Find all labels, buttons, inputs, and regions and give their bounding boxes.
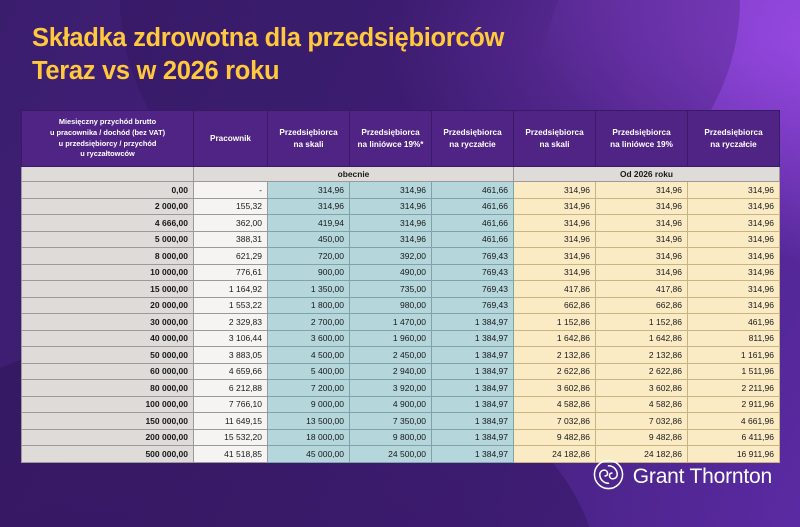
cell-income: 60 000,00 [22, 363, 194, 380]
cell-2026-lumpsum: 6 411,96 [688, 429, 780, 446]
cell-now-flat-19: 2 450,00 [350, 347, 432, 364]
cell-employee: 15 532,20 [194, 429, 268, 446]
cell-income: 200 000,00 [22, 429, 194, 446]
cell-income: 5 000,00 [22, 231, 194, 248]
brand-logo: Grant Thornton [593, 459, 772, 495]
cell-now-scale: 7 200,00 [268, 380, 350, 397]
cell-now-scale: 13 500,00 [268, 413, 350, 430]
table-row: 40 000,003 106,443 600,001 960,001 384,9… [22, 330, 780, 347]
cell-2026-lumpsum: 314,96 [688, 297, 780, 314]
cell-now-lumpsum: 461,66 [432, 198, 514, 215]
table-head: Miesięczny przychód brutto u pracownika … [22, 111, 780, 167]
cell-employee: 6 212,88 [194, 380, 268, 397]
cell-2026-lumpsum: 461,96 [688, 314, 780, 331]
cell-now-lumpsum: 1 384,97 [432, 413, 514, 430]
cell-employee: 3 106,44 [194, 330, 268, 347]
cell-now-lumpsum: 1 384,97 [432, 446, 514, 463]
cell-now-flat-19: 9 800,00 [350, 429, 432, 446]
cell-now-lumpsum: 461,66 [432, 215, 514, 232]
cell-2026-lumpsum: 314,96 [688, 281, 780, 298]
cell-now-flat-19: 3 920,00 [350, 380, 432, 397]
cell-now-scale: 450,00 [268, 231, 350, 248]
cell-2026-scale: 662,86 [514, 297, 596, 314]
page-title: Składka zdrowotna dla przedsiębiorców Te… [32, 22, 732, 88]
cell-now-flat-19: 392,00 [350, 248, 432, 265]
cell-2026-scale: 314,96 [514, 264, 596, 281]
cell-2026-flat-19: 1 152,86 [596, 314, 688, 331]
cell-now-lumpsum: 1 384,97 [432, 314, 514, 331]
cell-2026-lumpsum: 2 911,96 [688, 396, 780, 413]
cell-2026-scale: 2 132,86 [514, 347, 596, 364]
col-header-employee: Pracownik [194, 111, 268, 167]
cell-now-scale: 18 000,00 [268, 429, 350, 446]
cell-now-scale: 314,96 [268, 182, 350, 199]
cell-employee: 621,29 [194, 248, 268, 265]
cell-now-lumpsum: 769,43 [432, 297, 514, 314]
cell-income: 40 000,00 [22, 330, 194, 347]
cell-2026-flat-19: 2 622,86 [596, 363, 688, 380]
cell-now-flat-19: 314,96 [350, 182, 432, 199]
cell-income: 500 000,00 [22, 446, 194, 463]
cell-2026-lumpsum: 314,96 [688, 182, 780, 199]
col-header-now-scale: Przedsiębiorca na skali [268, 111, 350, 167]
col-header-now-flat-19: Przedsiębiorca na liniówce 19%* [350, 111, 432, 167]
cell-now-flat-19: 24 500,00 [350, 446, 432, 463]
comparison-table-wrapper: Miesięczny przychód brutto u pracownika … [21, 110, 779, 463]
cell-2026-flat-19: 417,86 [596, 281, 688, 298]
cell-now-flat-19: 314,96 [350, 215, 432, 232]
cell-employee: 7 766,10 [194, 396, 268, 413]
cell-now-scale: 4 500,00 [268, 347, 350, 364]
cell-now-lumpsum: 769,43 [432, 264, 514, 281]
table-row: 200 000,0015 532,2018 000,009 800,001 38… [22, 429, 780, 446]
cell-now-scale: 900,00 [268, 264, 350, 281]
cell-now-flat-19: 980,00 [350, 297, 432, 314]
cell-2026-flat-19: 314,96 [596, 248, 688, 265]
cell-now-flat-19: 490,00 [350, 264, 432, 281]
cell-employee: 41 518,85 [194, 446, 268, 463]
table-row: 15 000,001 164,921 350,00735,00769,43417… [22, 281, 780, 298]
cell-2026-lumpsum: 314,96 [688, 231, 780, 248]
cell-now-lumpsum: 461,66 [432, 182, 514, 199]
cell-employee: 1 553,22 [194, 297, 268, 314]
cell-2026-lumpsum: 1 161,96 [688, 347, 780, 364]
table-row: 80 000,006 212,887 200,003 920,001 384,9… [22, 380, 780, 397]
cell-now-lumpsum: 1 384,97 [432, 363, 514, 380]
cell-2026-flat-19: 9 482,86 [596, 429, 688, 446]
cell-now-scale: 1 800,00 [268, 297, 350, 314]
cell-now-flat-19: 7 350,00 [350, 413, 432, 430]
cell-now-flat-19: 735,00 [350, 281, 432, 298]
table-row: 50 000,003 883,054 500,002 450,001 384,9… [22, 347, 780, 364]
cell-2026-lumpsum: 314,96 [688, 248, 780, 265]
cell-now-flat-19: 1 470,00 [350, 314, 432, 331]
cell-income: 150 000,00 [22, 413, 194, 430]
cell-2026-flat-19: 2 132,86 [596, 347, 688, 364]
cell-2026-flat-19: 314,96 [596, 182, 688, 199]
cell-2026-flat-19: 314,96 [596, 215, 688, 232]
cell-employee: 388,31 [194, 231, 268, 248]
col-header-income: Miesięczny przychód brutto u pracownika … [22, 111, 194, 167]
cell-income: 100 000,00 [22, 396, 194, 413]
cell-employee: 155,32 [194, 198, 268, 215]
cell-2026-scale: 314,96 [514, 215, 596, 232]
cell-2026-scale: 4 582,86 [514, 396, 596, 413]
col-header-2026-flat-19: Przedsiębiorca na liniówce 19% [596, 111, 688, 167]
cell-income: 80 000,00 [22, 380, 194, 397]
cell-employee: 3 883,05 [194, 347, 268, 364]
cell-employee: 2 329,83 [194, 314, 268, 331]
cell-now-scale: 45 000,00 [268, 446, 350, 463]
cell-2026-scale: 1 642,86 [514, 330, 596, 347]
cell-now-lumpsum: 461,66 [432, 231, 514, 248]
cell-now-scale: 1 350,00 [268, 281, 350, 298]
cell-now-lumpsum: 1 384,97 [432, 347, 514, 364]
cell-now-scale: 5 400,00 [268, 363, 350, 380]
table-row: 20 000,001 553,221 800,00980,00769,43662… [22, 297, 780, 314]
cell-2026-flat-19: 4 582,86 [596, 396, 688, 413]
cell-2026-flat-19: 314,96 [596, 264, 688, 281]
cell-now-scale: 419,94 [268, 215, 350, 232]
cell-employee: 11 649,15 [194, 413, 268, 430]
cell-now-flat-19: 314,96 [350, 231, 432, 248]
infographic-page: Składka zdrowotna dla przedsiębiorców Te… [0, 0, 800, 527]
col-header-2026-lumpsum: Przedsiębiorca na ryczałcie [688, 111, 780, 167]
cell-2026-scale: 9 482,86 [514, 429, 596, 446]
cell-2026-scale: 1 152,86 [514, 314, 596, 331]
cell-2026-flat-19: 662,86 [596, 297, 688, 314]
cell-now-flat-19: 2 940,00 [350, 363, 432, 380]
cell-income: 30 000,00 [22, 314, 194, 331]
cell-now-lumpsum: 1 384,97 [432, 429, 514, 446]
period-band-row: obecnie Od 2026 roku [22, 167, 780, 182]
cell-now-lumpsum: 1 384,97 [432, 396, 514, 413]
cell-2026-lumpsum: 314,96 [688, 215, 780, 232]
cell-2026-lumpsum: 1 511,96 [688, 363, 780, 380]
cell-now-flat-19: 1 960,00 [350, 330, 432, 347]
cell-2026-lumpsum: 811,96 [688, 330, 780, 347]
cell-now-scale: 9 000,00 [268, 396, 350, 413]
cell-2026-flat-19: 7 032,86 [596, 413, 688, 430]
table-row: 0,00-314,96314,96461,66314,96314,96314,9… [22, 182, 780, 199]
cell-2026-flat-19: 3 602,86 [596, 380, 688, 397]
cell-now-flat-19: 314,96 [350, 198, 432, 215]
cell-2026-scale: 314,96 [514, 231, 596, 248]
cell-income: 50 000,00 [22, 347, 194, 364]
cell-now-flat-19: 4 900,00 [350, 396, 432, 413]
cell-employee: 1 164,92 [194, 281, 268, 298]
cell-employee: 362,00 [194, 215, 268, 232]
cell-2026-scale: 417,86 [514, 281, 596, 298]
cell-now-scale: 314,96 [268, 198, 350, 215]
table-row: 60 000,004 659,665 400,002 940,001 384,9… [22, 363, 780, 380]
col-header-now-lumpsum: Przedsiębiorca na ryczałcie [432, 111, 514, 167]
cell-employee: 4 659,66 [194, 363, 268, 380]
health-contribution-table: Miesięczny przychód brutto u pracownika … [21, 110, 780, 463]
cell-2026-scale: 24 182,86 [514, 446, 596, 463]
cell-2026-flat-19: 314,96 [596, 231, 688, 248]
cell-2026-scale: 314,96 [514, 182, 596, 199]
cell-2026-lumpsum: 2 211,96 [688, 380, 780, 397]
cell-2026-lumpsum: 314,96 [688, 198, 780, 215]
cell-now-scale: 2 700,00 [268, 314, 350, 331]
band-current-label: obecnie [194, 167, 514, 182]
table-row: 10 000,00776,61900,00490,00769,43314,963… [22, 264, 780, 281]
band-future-label: Od 2026 roku [514, 167, 780, 182]
table-body: obecnie Od 2026 roku 0,00-314,96314,9646… [22, 167, 780, 463]
cell-2026-lumpsum: 314,96 [688, 264, 780, 281]
cell-2026-scale: 2 622,86 [514, 363, 596, 380]
cell-now-lumpsum: 769,43 [432, 281, 514, 298]
cell-now-scale: 720,00 [268, 248, 350, 265]
cell-income: 20 000,00 [22, 297, 194, 314]
cell-2026-scale: 314,96 [514, 198, 596, 215]
table-row: 100 000,007 766,109 000,004 900,001 384,… [22, 396, 780, 413]
cell-income: 2 000,00 [22, 198, 194, 215]
cell-employee: 776,61 [194, 264, 268, 281]
table-row: 30 000,002 329,832 700,001 470,001 384,9… [22, 314, 780, 331]
table-row: 150 000,0011 649,1513 500,007 350,001 38… [22, 413, 780, 430]
cell-employee: - [194, 182, 268, 199]
table-header-row: Miesięczny przychód brutto u pracownika … [22, 111, 780, 167]
cell-now-scale: 3 600,00 [268, 330, 350, 347]
cell-now-lumpsum: 769,43 [432, 248, 514, 265]
table-row: 5 000,00388,31450,00314,96461,66314,9631… [22, 231, 780, 248]
cell-income: 0,00 [22, 182, 194, 199]
band-blank-cell [22, 167, 194, 182]
cell-2026-flat-19: 1 642,86 [596, 330, 688, 347]
col-header-2026-scale: Przedsiębiorca na skali [514, 111, 596, 167]
cell-2026-scale: 314,96 [514, 248, 596, 265]
cell-income: 15 000,00 [22, 281, 194, 298]
grant-thornton-swirl-icon [593, 459, 624, 495]
cell-2026-flat-19: 314,96 [596, 198, 688, 215]
cell-now-lumpsum: 1 384,97 [432, 330, 514, 347]
cell-income: 8 000,00 [22, 248, 194, 265]
table-row: 2 000,00155,32314,96314,96461,66314,9631… [22, 198, 780, 215]
cell-income: 10 000,00 [22, 264, 194, 281]
brand-name: Grant Thornton [633, 465, 772, 489]
cell-2026-scale: 7 032,86 [514, 413, 596, 430]
cell-income: 4 666,00 [22, 215, 194, 232]
table-row: 4 666,00362,00419,94314,96461,66314,9631… [22, 215, 780, 232]
table-row: 8 000,00621,29720,00392,00769,43314,9631… [22, 248, 780, 265]
cell-2026-scale: 3 602,86 [514, 380, 596, 397]
cell-now-lumpsum: 1 384,97 [432, 380, 514, 397]
cell-2026-lumpsum: 4 661,96 [688, 413, 780, 430]
